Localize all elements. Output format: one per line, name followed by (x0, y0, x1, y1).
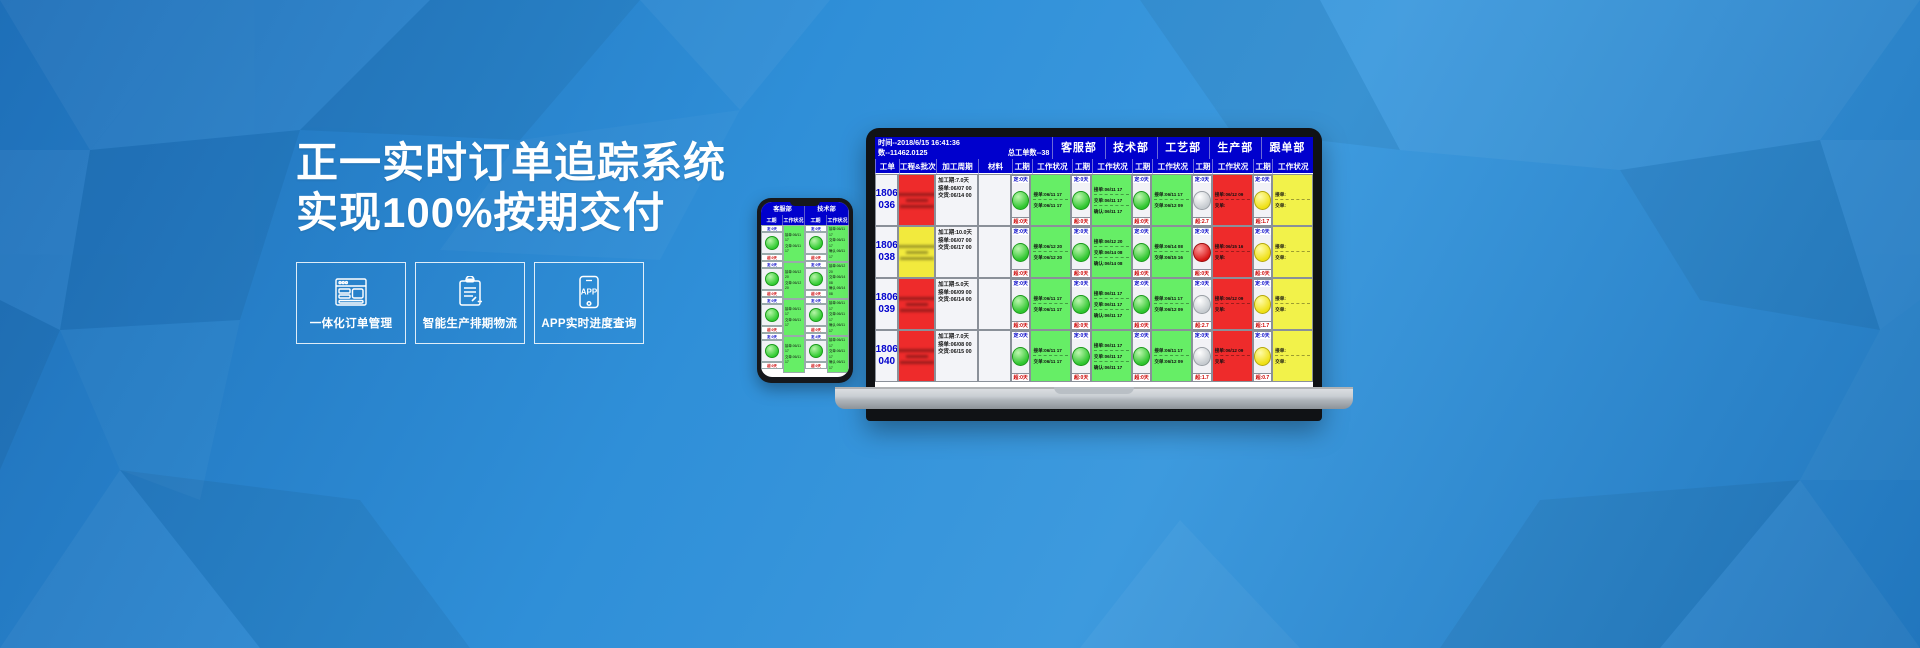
phone-status-dot-green[interactable] (765, 308, 779, 322)
dept-work-status-cell-3[interactable]: 接单:06/11 17交单:06/12 09 (1151, 278, 1192, 330)
work-status-line: 交单: (1215, 254, 1250, 261)
status-indicator-wrap[interactable] (1012, 287, 1030, 321)
phone-work-line: 接单:06/11 17 (829, 301, 847, 312)
project-batch-cell[interactable] (898, 278, 935, 330)
status-dot-yellow[interactable] (1254, 191, 1272, 210)
phone-work-line: 接单:06/11 17 (829, 227, 847, 238)
phone-status-dot-green[interactable] (809, 236, 823, 250)
phone-overdue-tag: 超:0天 (761, 290, 783, 297)
phone-status-indicator[interactable] (761, 232, 783, 254)
col-status-4: 工作状况 (1212, 159, 1253, 174)
col-material: 材料 (978, 159, 1012, 174)
order-prefix: 1806 (876, 344, 898, 356)
cycle-line: 加工期:7.0天 (938, 178, 975, 186)
work-status-line: 交单: (1215, 202, 1250, 209)
overdue-days-tag: 超:0.7天 (1254, 373, 1272, 381)
status-dot-grey[interactable] (1193, 191, 1211, 210)
order-suffix: 039 (878, 304, 895, 316)
project-text-redacted (899, 227, 934, 277)
dept-duration-cell-4[interactable]: 定:0天超:2.7天 (1192, 174, 1212, 226)
cycle-line: 接单:06/07 00 (938, 186, 975, 194)
work-status-line: 交单:06/11 17 (1033, 202, 1068, 209)
dept-duration-cell-1[interactable]: 定:0天超:0天 (1011, 174, 1031, 226)
dept-merchandising: 跟单部 (1261, 137, 1313, 159)
dashboard-layout-icon (334, 275, 368, 309)
dashboard-time: 时间--2018/6/15 16:41:36 (878, 138, 960, 148)
work-status-line: 交单: (1275, 358, 1310, 365)
phone-work-line: 交单:06/12 20 (785, 281, 803, 292)
dept-duration-cell-1[interactable]: 定:0天超:0天 (1011, 278, 1031, 330)
dept-work-status-cell-5[interactable]: 接单:交单: (1272, 278, 1313, 330)
work-status-line: 接单:06/11 17 (1154, 347, 1189, 356)
phone-status-dot-green[interactable] (765, 272, 779, 286)
work-status-line: 接单:06/11 17 (1094, 290, 1129, 299)
work-status-line: 确认:06/11 17 (1094, 364, 1129, 371)
dept-duration-cell-5[interactable]: 定:0天超:1.7天 (1253, 174, 1273, 226)
plan-days-tag: 定:0天 (1133, 227, 1151, 235)
dashboard-total-orders: 总工单数--38 (1008, 148, 1050, 158)
phone-work-line: 接单:06/12 20 (829, 264, 847, 275)
department-header-row: 客服部 技术部 工艺部 生产部 跟单部 (1052, 137, 1313, 159)
dept-work-status-cell-4[interactable]: 接单:06/12 09交单: (1212, 330, 1253, 382)
phone-status-dot-green[interactable] (765, 344, 779, 358)
order-suffix: 038 (878, 252, 895, 264)
plan-days-tag: 定:0天 (1072, 227, 1090, 235)
work-status-line: 确认:06/11 17 (1094, 208, 1129, 215)
status-indicator-wrap[interactable] (1254, 235, 1272, 269)
dept-duration-cell-4[interactable]: 定:0天超:2.7天 (1192, 278, 1212, 330)
overdue-days-tag: 超:0天 (1012, 269, 1030, 277)
dept-work-status-cell-5[interactable]: 接单:交单: (1272, 174, 1313, 226)
phone-work-status-cell[interactable]: 接单:06/11 17交单:06/11 17 (783, 225, 805, 262)
status-dot-green[interactable] (1072, 295, 1090, 314)
work-status-line: 交单:06/12 09 (1154, 202, 1189, 209)
order-prefix: 1806 (876, 188, 898, 200)
cycle-line: 接单:06/09 00 (938, 290, 975, 298)
status-indicator-wrap[interactable] (1254, 287, 1272, 321)
material-cell (978, 330, 1011, 382)
plan-days-tag: 定:0天 (1012, 279, 1030, 287)
phone-col-duration-b: 工期 (805, 215, 827, 225)
clipboard-schedule-icon (455, 275, 485, 309)
dept-work-status-cell-5[interactable]: 接单:交单: (1272, 330, 1313, 382)
dept-work-status-cell-3[interactable]: 接单:06/14 08交单:06/15 16 (1151, 226, 1192, 278)
status-indicator-wrap[interactable] (1193, 287, 1211, 321)
material-cell (978, 226, 1011, 278)
col-duration-2: 工期 (1072, 159, 1092, 174)
dept-duration-cell-2[interactable]: 定:0天超:0天 (1071, 226, 1091, 278)
plan-days-tag: 定:0天 (1193, 175, 1211, 183)
phone-overdue-tag: 超:0天 (761, 254, 783, 261)
work-status-line: 接单: (1275, 295, 1310, 304)
phone-overdue-tag: 超:0天 (805, 326, 827, 333)
table-row[interactable]: 1806038加工期:10.0天接单:06/07 00交货:06/17 00定:… (875, 226, 1313, 278)
cycle-line: 交货:06/15 00 (938, 349, 975, 357)
dept-work-status-cell-3[interactable]: 接单:06/11 17交单:06/12 09 (1151, 330, 1192, 382)
work-status-line: 确认:06/14 08 (1094, 260, 1129, 267)
status-indicator-wrap[interactable] (1072, 339, 1090, 373)
processing-cycle-cell: 加工期:7.0天接单:06/07 00交货:06/14 00 (935, 174, 978, 226)
work-status-line: 交单:06/14 08 (1094, 249, 1129, 258)
table-column-header: 工单 工程&批次 加工周期 材料 工期 工作状况 工期 工作状况 工期 工作状况… (875, 159, 1313, 174)
status-dot-green[interactable] (1133, 347, 1151, 366)
feature-card-production-scheduling[interactable]: 智能生产排期物流 (415, 262, 525, 344)
col-status-2: 工作状况 (1092, 159, 1133, 174)
work-status-line: 确认:06/11 17 (1094, 312, 1129, 319)
work-status-line: 接单:06/11 17 (1094, 186, 1129, 195)
phone-work-status-cell[interactable]: 接单:06/11 17交单:06/11 17确认:06/11 17 (827, 336, 849, 373)
processing-cycle-cell: 加工期:5.0天接单:06/09 00交货:06/14 00 (935, 278, 978, 330)
overdue-days-tag: 超:2.7天 (1193, 321, 1211, 329)
status-dot-green[interactable] (1133, 243, 1151, 262)
processing-cycle-cell: 加工期:10.0天接单:06/07 00交货:06/17 00 (935, 226, 978, 278)
plan-days-tag: 定:0天 (1254, 331, 1272, 339)
phone-overdue-tag: 超:0天 (805, 254, 827, 261)
phone-work-line: 接单:06/11 17 (829, 338, 847, 349)
dept-duration-cell-2[interactable]: 定:0天超:0天 (1071, 174, 1091, 226)
overdue-days-tag: 超:0天 (1133, 321, 1151, 329)
work-status-line: 交单: (1275, 254, 1310, 261)
status-indicator-wrap[interactable] (1133, 183, 1151, 217)
plan-days-tag: 定:0天 (1254, 279, 1272, 287)
phone-overdue-tag: 超:0天 (761, 326, 783, 333)
phone-col-status-b: 工作状况 (827, 215, 849, 225)
phone-work-status-cell[interactable]: 接单:06/12 20交单:06/14 08确认:06/14 08 (827, 262, 849, 299)
status-indicator-wrap[interactable] (1254, 183, 1272, 217)
work-status-line: 接单:06/12 09 (1215, 191, 1250, 200)
overdue-days-tag: 超:0天 (1012, 321, 1030, 329)
dashboard-topbar: 时间--2018/6/15 16:41:36 数--11462.0125 总工单… (875, 137, 1313, 159)
project-text-redacted (899, 175, 934, 225)
phone-overdue-tag: 超:0天 (761, 362, 783, 369)
work-status-line: 接单:06/12 09 (1215, 295, 1250, 304)
status-indicator-wrap[interactable] (1133, 339, 1151, 373)
plan-days-tag: 定:0天 (1072, 175, 1090, 183)
laptop-lid: 时间--2018/6/15 16:41:36 数--11462.0125 总工单… (866, 128, 1322, 421)
plan-days-tag: 定:0天 (1133, 279, 1151, 287)
dept-duration-cell-4[interactable]: 定:0天超:0天 (1192, 226, 1212, 278)
headline-line-1: 正一实时订单追踪系统 (296, 138, 756, 188)
col-project: 工程&批次 (899, 159, 936, 174)
phone-status-indicator[interactable] (805, 340, 827, 362)
status-dot-green[interactable] (1012, 243, 1030, 262)
dept-work-status-cell-3[interactable]: 接单:06/11 17交单:06/12 09 (1151, 174, 1192, 226)
phone-status-indicator[interactable] (761, 340, 783, 362)
project-text-redacted (899, 279, 934, 329)
status-dot-yellow[interactable] (1254, 347, 1272, 366)
order-number-cell[interactable]: 1806039 (875, 278, 898, 330)
overdue-days-tag: 超:1.7天 (1254, 321, 1272, 329)
phone-work-line: 交单:06/11 17 (785, 355, 803, 366)
project-batch-cell[interactable] (898, 226, 935, 278)
phone-device: 客服部 技术部 工期 工作状况 工期 工作状况 定:0天超:0天定:0天超:0天… (757, 198, 853, 383)
project-batch-cell[interactable] (898, 330, 935, 382)
feature-list: 一体化订单管理 智能生产排期物流 APP (296, 262, 644, 344)
status-dot-green[interactable] (1133, 191, 1151, 210)
phone-plan-tag: 定:0天 (761, 261, 783, 268)
status-indicator-wrap[interactable] (1133, 287, 1151, 321)
work-status-line: 接单:06/11 17 (1154, 295, 1189, 304)
material-cell (978, 174, 1011, 226)
dept-duration-cell-1[interactable]: 定:0天超:0天 (1011, 330, 1031, 382)
table-row[interactable]: 1806040加工期:7.0天接单:06/08 00交货:06/15 00定:0… (875, 330, 1313, 382)
phone-work-status-cell[interactable]: 接单:06/12 20交单:06/12 20 (783, 262, 805, 299)
phone-work-line: 交单:06/11 17 (829, 312, 847, 323)
dept-work-status-cell-2[interactable]: 接单:06/11 17交单:06/11 17确认:06/11 17 (1091, 174, 1132, 226)
dept-duration-cell-3[interactable]: 定:0天超:0天 (1132, 278, 1152, 330)
status-indicator-wrap[interactable] (1012, 235, 1030, 269)
phone-work-line: 交单:06/14 08 (829, 275, 847, 286)
status-indicator-wrap[interactable] (1193, 339, 1211, 373)
phone-column-header: 工期 工作状况 工期 工作状况 (761, 215, 849, 225)
dept-work-status-cell-1[interactable]: 接单:06/12 20交单:06/12 20 (1030, 226, 1071, 278)
dept-duration-cell-2[interactable]: 定:0天超:0天 (1071, 278, 1091, 330)
overdue-days-tag: 超:0天 (1133, 373, 1151, 381)
dept-work-status-cell-1[interactable]: 接单:06/11 17交单:06/11 17 (1030, 330, 1071, 382)
status-dot-green[interactable] (1072, 347, 1090, 366)
dept-duration-cell-3[interactable]: 定:0天超:0天 (1132, 226, 1152, 278)
phone-status-dot-green[interactable] (809, 308, 823, 322)
status-dot-green[interactable] (1072, 243, 1090, 262)
work-status-line: 交单:06/11 17 (1033, 306, 1068, 313)
dashboard-meta: 时间--2018/6/15 16:41:36 数--11462.0125 总工单… (875, 137, 1052, 159)
plan-days-tag: 定:0天 (1072, 331, 1090, 339)
cycle-line: 加工期:5.0天 (938, 282, 975, 290)
work-status-line: 交单:06/11 17 (1094, 197, 1129, 206)
work-status-line: 交单:06/15 16 (1154, 254, 1189, 261)
work-status-line: 接单:06/12 20 (1094, 238, 1129, 247)
dept-work-status-cell-4[interactable]: 接单:06/15 16交单: (1212, 226, 1253, 278)
order-number-cell[interactable]: 1806036 (875, 174, 898, 226)
overdue-days-tag: 超:2.7天 (1193, 217, 1211, 225)
cycle-line: 加工期:7.0天 (938, 334, 975, 342)
cycle-line: 接单:06/08 00 (938, 342, 975, 350)
status-indicator-wrap[interactable] (1193, 235, 1211, 269)
phone-work-status-cell[interactable]: 接单:06/11 17交单:06/11 17确认:06/11 17 (827, 299, 849, 336)
plan-days-tag: 定:0天 (1072, 279, 1090, 287)
project-batch-cell[interactable] (898, 174, 935, 226)
phone-col-duration-a: 工期 (761, 215, 783, 225)
dept-duration-cell-5[interactable]: 定:0天超:0.7天 (1253, 330, 1273, 382)
overdue-days-tag: 超:0天 (1193, 269, 1211, 277)
phone-plan-tag: 定:0天 (805, 261, 827, 268)
work-status-line: 交单: (1215, 358, 1250, 365)
phone-plan-tag: 定:0天 (761, 333, 783, 340)
status-dot-green[interactable] (1012, 191, 1030, 210)
work-status-line: 交单:06/12 09 (1154, 306, 1189, 313)
plan-days-tag: 定:0天 (1193, 279, 1211, 287)
work-status-line: 交单: (1275, 202, 1310, 209)
phone-duration-col-customer-service[interactable]: 定:0天超:0天定:0天超:0天定:0天超:0天定:0天超:0天 (761, 225, 783, 377)
dept-work-status-cell-2[interactable]: 接单:06/11 17交单:06/11 17确认:06/11 17 (1091, 278, 1132, 330)
phone-work-line: 确认:06/11 17 (829, 249, 847, 260)
dashboard-count: 数--11462.0125 (878, 148, 928, 158)
status-dot-green[interactable] (1012, 295, 1030, 314)
work-status-line: 接单:06/11 17 (1033, 347, 1068, 356)
status-indicator-wrap[interactable] (1012, 183, 1030, 217)
mobile-app-icon: APP (577, 275, 601, 309)
phone-work-status-cell[interactable]: 接单:06/11 17交单:06/11 17 (783, 299, 805, 336)
phone-plan-tag: 定:0天 (805, 297, 827, 304)
phone-plan-tag: 定:0天 (761, 297, 783, 304)
phone-plan-tag: 定:4天 (805, 333, 827, 340)
feature-card-order-management[interactable]: 一体化订单管理 (296, 262, 406, 344)
work-status-line: 接单:06/14 08 (1154, 243, 1189, 252)
phone-status-indicator[interactable] (805, 268, 827, 290)
work-status-line: 交单: (1215, 306, 1250, 313)
status-dot-grey[interactable] (1193, 347, 1211, 366)
phone-status-col-customer-service[interactable]: 接单:06/11 17交单:06/11 17接单:06/12 20交单:06/1… (783, 225, 805, 377)
dept-duration-cell-3[interactable]: 定:0天超:0天 (1132, 330, 1152, 382)
col-duration-4: 工期 (1193, 159, 1213, 174)
dept-work-status-cell-4[interactable]: 接单:06/12 09交单: (1212, 174, 1253, 226)
phone-status-col-technical[interactable]: 接单:06/11 17交单:06/11 17确认:06/11 17接单:06/1… (827, 225, 849, 377)
phone-work-line: 接单:06/11 17 (785, 307, 803, 318)
work-status-line: 接单:06/11 17 (1094, 342, 1129, 351)
phone-status-dot-green[interactable] (765, 236, 779, 250)
phone-work-line: 确认:06/11 17 (829, 323, 847, 334)
dept-duration-cell-2[interactable]: 定:0天超:0天 (1071, 330, 1091, 382)
work-status-line: 接单: (1275, 347, 1310, 356)
status-indicator-wrap[interactable] (1012, 339, 1030, 373)
phone-status-dot-green[interactable] (809, 344, 823, 358)
feature-card-app-progress-query[interactable]: APP APP实时进度查询 (534, 262, 644, 344)
overdue-days-tag: 超:1.7天 (1254, 217, 1272, 225)
table-row[interactable]: 1806036加工期:7.0天接单:06/07 00交货:06/14 00定:0… (875, 174, 1313, 226)
dept-duration-cell-1[interactable]: 定:0天超:0天 (1011, 226, 1031, 278)
status-dot-red[interactable] (1193, 243, 1211, 262)
order-suffix: 040 (878, 356, 895, 368)
work-status-line: 接单:06/12 20 (1033, 243, 1068, 252)
phone-work-line: 交单:06/11 17 (829, 349, 847, 360)
phone-plan-tag: 定:0天 (805, 225, 827, 232)
phone-work-line: 确认:06/14 08 (829, 286, 847, 297)
dept-production: 生产部 (1209, 137, 1261, 159)
plan-days-tag: 定:0天 (1193, 227, 1211, 235)
material-cell (978, 278, 1011, 330)
phone-work-line: 交单:06/11 17 (785, 244, 803, 255)
status-indicator-wrap[interactable] (1072, 287, 1090, 321)
plan-days-tag: 定:0天 (1012, 175, 1030, 183)
status-dot-green[interactable] (1072, 191, 1090, 210)
phone-overdue-tag: 超:0天 (805, 290, 827, 297)
feature-label: 一体化订单管理 (310, 315, 393, 331)
project-text-redacted (899, 331, 934, 381)
phone-plan-tag: 定:0天 (761, 225, 783, 232)
plan-days-tag: 定:0天 (1012, 227, 1030, 235)
dept-work-status-cell-2[interactable]: 接单:06/11 17交单:06/11 17确认:06/11 17 (1091, 330, 1132, 382)
phone-overdue-tag: 超:0天 (805, 362, 827, 369)
status-indicator-wrap[interactable] (1193, 183, 1211, 217)
work-status-line: 接单:06/11 17 (1154, 191, 1189, 200)
cycle-line: 接单:06/07 00 (938, 238, 975, 246)
table-row[interactable]: 1806039加工期:5.0天接单:06/09 00交货:06/14 00定:0… (875, 278, 1313, 330)
plan-days-tag: 定:0天 (1254, 175, 1272, 183)
order-table-body[interactable]: 1806036加工期:7.0天接单:06/07 00交货:06/14 00定:0… (875, 174, 1313, 382)
phone-status-dot-green[interactable] (809, 272, 823, 286)
plan-days-tag: 定:0天 (1193, 331, 1211, 339)
phone-work-line: 接单:06/11 17 (785, 344, 803, 355)
overdue-days-tag: 超:0天 (1012, 373, 1030, 381)
phone-table-body[interactable]: 定:0天超:0天定:0天超:0天定:0天超:0天定:0天超:0天接单:06/11… (761, 225, 849, 377)
work-status-line: 接单: (1275, 191, 1310, 200)
dept-duration-cell-5[interactable]: 定:0天超:0天 (1253, 226, 1273, 278)
work-status-line: 交单:06/12 20 (1033, 254, 1068, 261)
order-prefix: 1806 (876, 240, 898, 252)
dept-process: 工艺部 (1157, 137, 1209, 159)
phone-work-line: 接单:06/11 17 (785, 233, 803, 244)
phone-status-indicator[interactable] (805, 304, 827, 326)
phone-status-indicator[interactable] (761, 304, 783, 326)
col-cycle: 加工周期 (936, 159, 978, 174)
work-status-line: 交单:06/11 17 (1033, 358, 1068, 365)
phone-screen: 客服部 技术部 工期 工作状况 工期 工作状况 定:0天超:0天定:0天超:0天… (761, 202, 849, 377)
col-status-3: 工作状况 (1152, 159, 1193, 174)
status-indicator-wrap[interactable] (1072, 183, 1090, 217)
work-status-line: 交单:06/11 17 (1094, 353, 1129, 362)
phone-work-line: 接单:06/12 20 (785, 270, 803, 281)
overdue-days-tag: 超:1.7天 (1193, 373, 1211, 381)
phone-notch (790, 201, 820, 206)
status-dot-yellow[interactable] (1254, 295, 1272, 314)
dept-duration-cell-5[interactable]: 定:0天超:1.7天 (1253, 278, 1273, 330)
app-badge-text: APP (581, 288, 598, 297)
status-dot-green[interactable] (1012, 347, 1030, 366)
work-status-line: 交单:06/12 09 (1154, 358, 1189, 365)
plan-days-tag: 定:0天 (1133, 331, 1151, 339)
dept-work-status-cell-1[interactable]: 接单:06/11 17交单:06/11 17 (1030, 278, 1071, 330)
cycle-line: 交货:06/17 00 (938, 245, 975, 253)
overdue-days-tag: 超:0天 (1072, 321, 1090, 329)
status-dot-grey[interactable] (1193, 295, 1211, 314)
headline-line-2: 实现100%按期交付 (296, 188, 756, 238)
overdue-days-tag: 超:0天 (1072, 373, 1090, 381)
overdue-days-tag: 超:0天 (1012, 217, 1030, 225)
dept-work-status-cell-2[interactable]: 接单:06/12 20交单:06/14 08确认:06/14 08 (1091, 226, 1132, 278)
phone-status-indicator[interactable] (805, 232, 827, 254)
status-dot-green[interactable] (1133, 295, 1151, 314)
order-number-cell[interactable]: 1806038 (875, 226, 898, 278)
hero-copy: 正一实时订单追踪系统 实现100%按期交付 (296, 138, 756, 238)
order-prefix: 1806 (876, 292, 898, 304)
laptop-base-notch (1054, 387, 1134, 394)
work-status-line: 接单:06/11 17 (1033, 295, 1068, 304)
phone-work-status-cell[interactable]: 接单:06/11 17交单:06/11 17确认:06/11 17 (827, 225, 849, 262)
status-indicator-wrap[interactable] (1254, 339, 1272, 373)
phone-status-indicator[interactable] (761, 268, 783, 290)
order-number-cell[interactable]: 1806040 (875, 330, 898, 382)
overdue-days-tag: 超:0天 (1072, 217, 1090, 225)
phone-duration-col-technical[interactable]: 定:0天超:0天定:0天超:0天定:0天超:0天定:4天超:0天 (805, 225, 827, 377)
plan-days-tag: 定:0天 (1133, 175, 1151, 183)
col-status-1: 工作状况 (1032, 159, 1073, 174)
phone-work-line: 确认:06/11 17 (829, 360, 847, 371)
dept-technical: 技术部 (1105, 137, 1157, 159)
dept-work-status-cell-1[interactable]: 接单:06/11 17交单:06/11 17 (1030, 174, 1071, 226)
dept-work-status-cell-5[interactable]: 接单:交单: (1272, 226, 1313, 278)
status-indicator-wrap[interactable] (1072, 235, 1090, 269)
cycle-line: 交货:06/14 00 (938, 193, 975, 201)
dept-duration-cell-4[interactable]: 定:0天超:1.7天 (1192, 330, 1212, 382)
status-indicator-wrap[interactable] (1133, 235, 1151, 269)
work-status-line: 接单:06/15 16 (1215, 243, 1250, 252)
dept-duration-cell-3[interactable]: 定:0天超:0天 (1132, 174, 1152, 226)
dept-work-status-cell-4[interactable]: 接单:06/12 09交单: (1212, 278, 1253, 330)
phone-work-status-cell[interactable]: 接单:06/11 17交单:06/11 17 (783, 336, 805, 373)
status-dot-yellow[interactable] (1254, 243, 1272, 262)
feature-label: APP实时进度查询 (541, 315, 636, 331)
col-status-5: 工作状况 (1272, 159, 1313, 174)
